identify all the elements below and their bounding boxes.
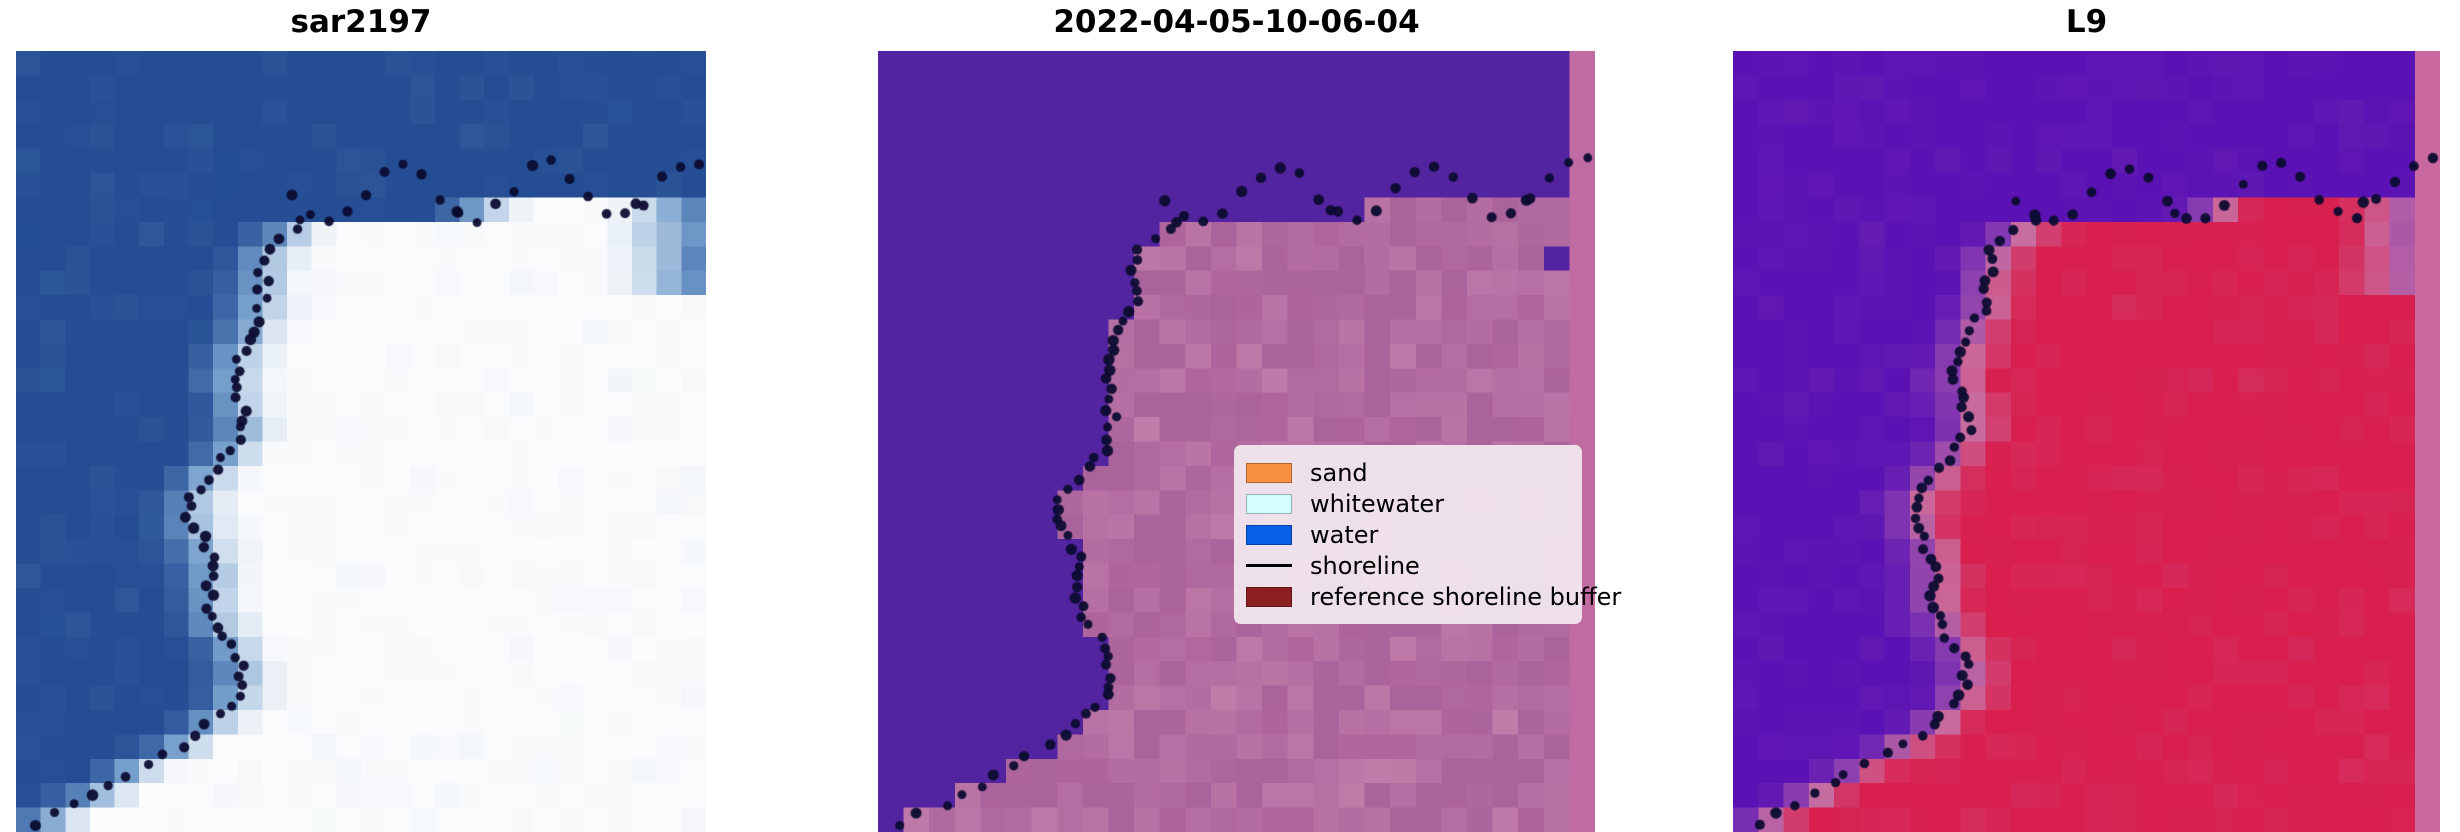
legend-item-sand[interactable]: sand: [1246, 457, 1572, 488]
panel-l9[interactable]: [1733, 51, 2440, 832]
panel-l9-image: [1733, 51, 2440, 832]
legend-label-water: water: [1310, 523, 1378, 547]
whitewater-color-patch: [1246, 494, 1292, 514]
sand-swatch-icon: [1246, 463, 1298, 483]
legend-label-reference-shoreline-buffer: reference shoreline buffer: [1310, 585, 1621, 609]
panel-title-date: 2022-04-05-10-06-04: [878, 4, 1595, 40]
panel-date-scene-image: [878, 51, 1595, 832]
panel-title-sar: sar2197: [16, 4, 706, 40]
legend-item-whitewater[interactable]: whitewater: [1246, 488, 1572, 519]
legend-label-whitewater: whitewater: [1310, 492, 1444, 516]
figure-canvas: sar2197 2022-04-05-10-06-04 L9 sand whit…: [0, 0, 2460, 832]
panel-sar2197-image: [16, 51, 706, 832]
legend-label-sand: sand: [1310, 461, 1368, 485]
legend-item-shoreline[interactable]: shoreline: [1246, 550, 1572, 581]
water-color-patch: [1246, 525, 1292, 545]
panel-title-l9: L9: [1733, 4, 2440, 40]
legend-label-shoreline: shoreline: [1310, 554, 1420, 578]
legend-item-reference-shoreline-buffer[interactable]: reference shoreline buffer: [1246, 581, 1572, 612]
water-swatch-icon: [1246, 525, 1298, 545]
legend-item-water[interactable]: water: [1246, 519, 1572, 550]
panel-sar2197[interactable]: [16, 51, 706, 832]
reference-buffer-swatch-icon: [1246, 587, 1298, 607]
reference-buffer-color-patch: [1246, 587, 1292, 607]
shoreline-line-icon: [1246, 564, 1298, 567]
shoreline-color-line: [1246, 564, 1292, 567]
panel-date-scene[interactable]: [878, 51, 1595, 832]
sand-color-patch: [1246, 463, 1292, 483]
whitewater-swatch-icon: [1246, 494, 1298, 514]
legend-box[interactable]: sand whitewater water shoreline referenc…: [1234, 445, 1582, 624]
